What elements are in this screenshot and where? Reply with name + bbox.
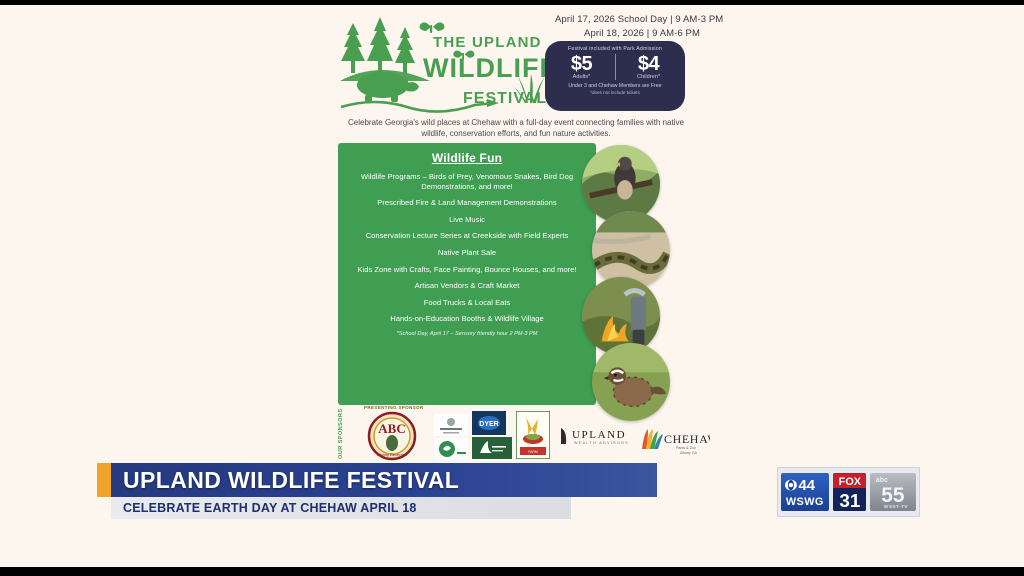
sponsor-logo — [434, 414, 468, 436]
banner-headline: UPLAND WILDLIFE FESTIVAL — [123, 467, 459, 494]
activity-item: Native Plant Sale — [348, 248, 586, 258]
svg-text:WILDLIFE: WILDLIFE — [423, 53, 550, 83]
date-line-1: April 17, 2026 School Day | 9 AM-3 PM — [555, 13, 700, 27]
cbs-44-wswg-logo: 44 WSWG — [781, 473, 829, 511]
banner-subhead: CELEBRATE EARTH DAY AT CHEHAW APRIL 18 — [123, 501, 417, 515]
letterbox-bottom — [0, 567, 1024, 576]
child-amount: $4 — [620, 54, 678, 75]
panel-footnote: *School Day, April 17 – Sensory friendly… — [348, 331, 586, 337]
banner-subhead-bar: CELEBRATE EARTH DAY AT CHEHAW APRIL 18 — [111, 497, 571, 519]
svg-text:FESTIVAL: FESTIVAL — [463, 90, 547, 107]
sponsor-logo — [434, 438, 468, 460]
abc-sponsor-logo: ABC Albany Beverage — [358, 411, 426, 461]
sponsor-logo: DYER — [472, 411, 506, 435]
svg-text:Albany, GA: Albany, GA — [680, 451, 698, 455]
abc-55-wsst-logo: abc 55 WSST-TV — [870, 473, 916, 511]
festival-logo-icon: THE UPLAND WILDLIFE FESTIVAL — [335, 11, 550, 116]
svg-text:Parks & Zoo: Parks & Zoo — [676, 446, 696, 450]
svg-text:UPLAND: UPLAND — [572, 429, 626, 441]
date-line-2: April 18, 2026 | 9 AM-6 PM — [555, 27, 700, 41]
broadcast-screen: THE UPLAND WILDLIFE FESTIVAL April 17, 2… — [0, 0, 1024, 576]
festival-logo: THE UPLAND WILDLIFE FESTIVAL — [335, 11, 550, 116]
station-logo-group: 44 WSWG FOX 31 abc 55 WSST-TV — [777, 467, 920, 517]
child-price: $4 Children* — [620, 54, 678, 80]
snake-photo — [592, 211, 670, 289]
banner-headline-bar: UPLAND WILDLIFE FESTIVAL — [111, 463, 657, 497]
fox-31-logo: FOX 31 — [833, 473, 867, 511]
price-row: $5 Adults* $4 Children* — [545, 54, 685, 80]
activity-item: Wildlife Programs – Birds of Prey, Venom… — [348, 172, 586, 191]
svg-text:CHEHAW: CHEHAW — [664, 432, 710, 446]
event-flyer: THE UPLAND WILDLIFE FESTIVAL April 17, 2… — [330, 5, 700, 465]
banner-accent-bar — [97, 463, 111, 497]
svg-text:WEALTH ADVISORS: WEALTH ADVISORS — [574, 441, 629, 445]
svg-text:55: 55 — [882, 484, 905, 507]
wildlife-fun-panel: Wildlife Fun Wildlife Programs – Birds o… — [338, 143, 596, 405]
badge-heading: Festival included with Park Admission — [545, 46, 685, 52]
panel-title: Wildlife Fun — [348, 151, 586, 165]
svg-text:THE UPLAND: THE UPLAND — [433, 34, 542, 51]
adult-label: Adults* — [553, 74, 611, 80]
svg-text:Albany Beverage: Albany Beverage — [377, 452, 408, 457]
badge-note: Under 3 and Chehaw Members are Free — [545, 83, 685, 89]
svg-text:44: 44 — [799, 478, 816, 494]
svg-text:FOX: FOX — [838, 476, 861, 488]
presenting-sponsor-label: PRESENTING SPONSOR — [364, 405, 424, 410]
sponsor-logo — [472, 437, 512, 459]
photo-collage — [582, 145, 682, 415]
event-dates: April 17, 2026 School Day | 9 AM-3 PM Ap… — [555, 13, 700, 40]
svg-text:ABC: ABC — [378, 421, 405, 436]
activity-item: Food Trucks & Local Eats — [348, 298, 586, 308]
svg-text:FARM: FARM — [528, 450, 538, 454]
sponsor-logo: FARM — [516, 411, 550, 459]
activity-item: Hands-on-Education Booths & Wildlife Vil… — [348, 314, 586, 324]
adult-amount: $5 — [553, 54, 611, 75]
flyer-tagline: Celebrate Georgia's wild places at Cheha… — [346, 117, 686, 139]
svg-text:DYER: DYER — [479, 421, 498, 428]
activity-item: Kids Zone with Crafts, Face Painting, Bo… — [348, 265, 586, 275]
lower-third-banner: UPLAND WILDLIFE FESTIVAL CELEBRATE EARTH… — [97, 463, 657, 523]
svg-text:31: 31 — [839, 490, 860, 511]
activity-item: Conservation Lecture Series at Creekside… — [348, 231, 586, 241]
admission-price-badge: Festival included with Park Admission $5… — [545, 41, 685, 111]
adult-price: $5 Adults* — [553, 54, 611, 80]
activity-item: Prescribed Fire & Land Management Demons… — [348, 198, 586, 208]
activity-item: Live Music — [348, 215, 586, 225]
sponsors-strip: OUR SPONSORS PRESENTING SPONSOR ABC Alba… — [338, 405, 698, 463]
chehaw-logo: CHEHAW Parks & Zoo Albany, GA — [638, 423, 710, 457]
svg-text:WSWG: WSWG — [786, 496, 824, 508]
our-sponsors-label: OUR SPONSORS — [338, 407, 349, 461]
upland-wealth-advisors-logo: UPLAND WEALTH ADVISORS — [558, 425, 644, 447]
price-divider — [615, 54, 616, 80]
video-stage: THE UPLAND WILDLIFE FESTIVAL April 17, 2… — [0, 5, 1024, 567]
svg-text:WSST-TV: WSST-TV — [884, 504, 908, 510]
badge-footnote: *does not include tickets — [545, 90, 685, 95]
activity-item: Artisan Vendors & Craft Market — [348, 281, 586, 291]
child-label: Children* — [620, 74, 678, 80]
